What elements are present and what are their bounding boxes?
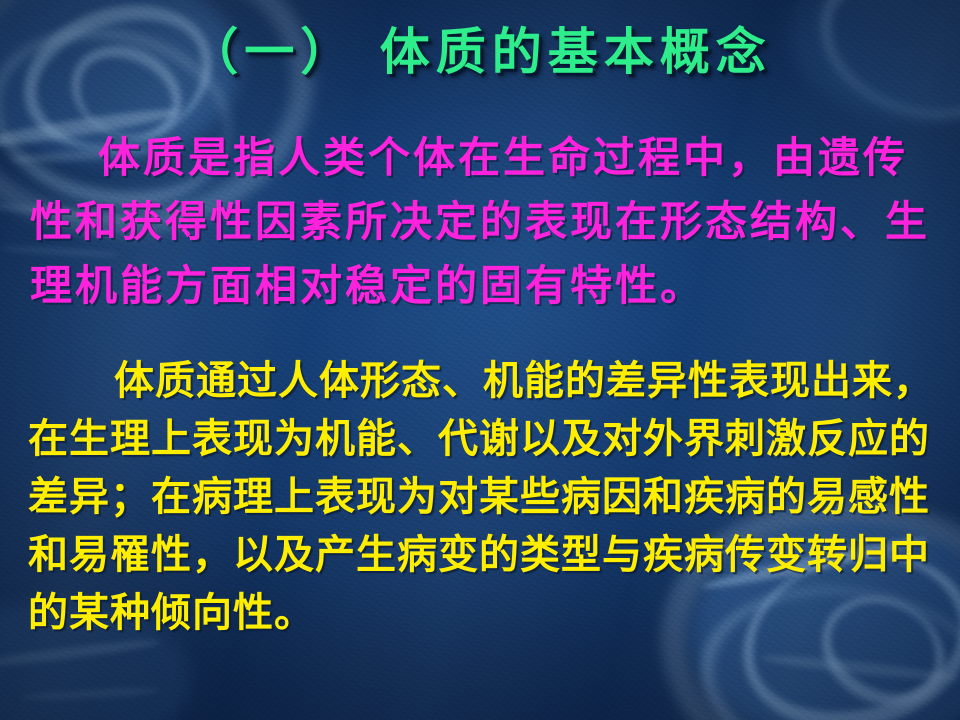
paragraph-definition: 体质是指人类个体在生命过程中，由遗传性和获得性因素所决定的表现在形态结构、生理机… (30, 126, 936, 318)
slide-title: （一） 体质的基本概念 (0, 12, 960, 84)
paragraph-expression: 体质通过人体形态、机能的差异性表现出来，在生理上表现为机能、代谢以及对外界刺激反… (28, 352, 940, 642)
presentation-slide: （一） 体质的基本概念 体质是指人类个体在生命过程中，由遗传性和获得性因素所决定… (0, 0, 960, 720)
